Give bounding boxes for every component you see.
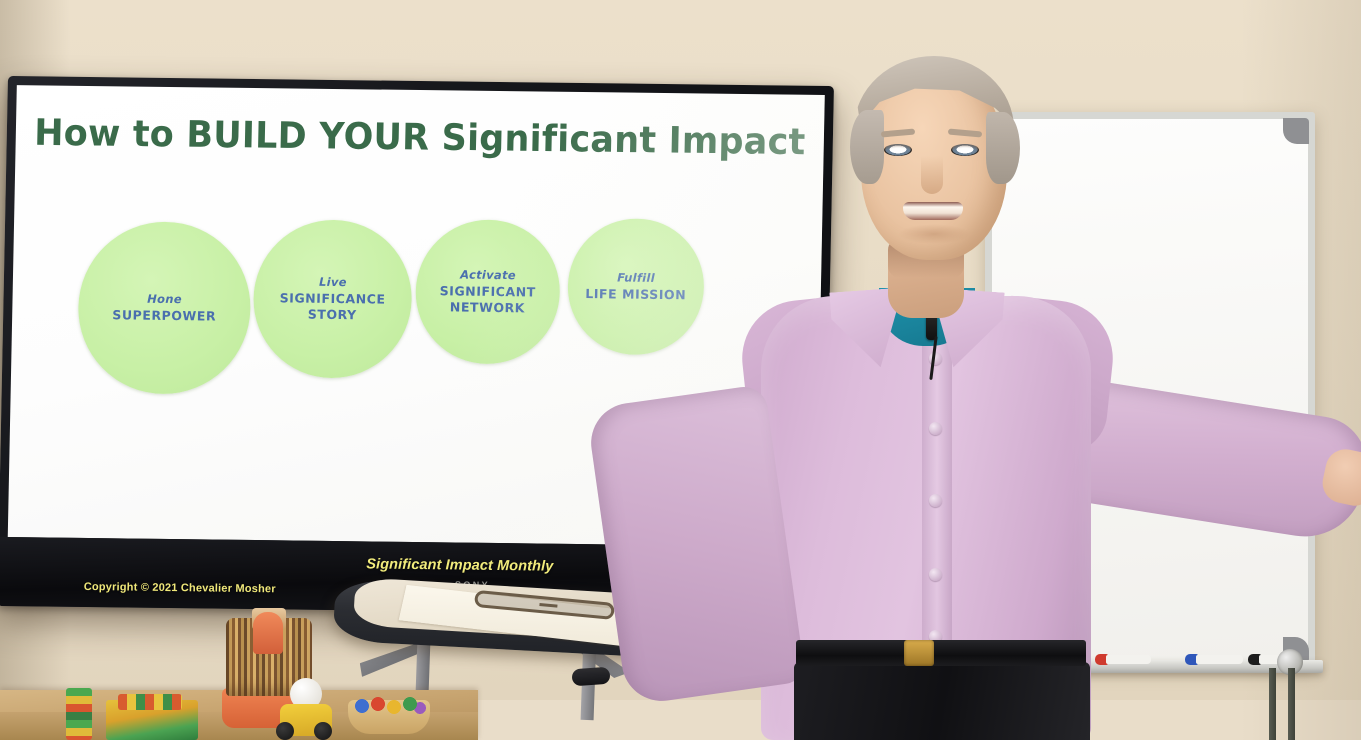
step-2-label: SIGNIFICANCESTORY (279, 291, 385, 324)
step-2-lead: Live (319, 275, 347, 289)
toy-wheel-right (314, 722, 332, 740)
crayon-carousel-knob (253, 612, 283, 654)
shirt-button-4 (929, 568, 942, 581)
presenter-left-eye (884, 144, 912, 156)
presenter-right-eye (951, 144, 979, 156)
step-1-label: SUPERPOWER (112, 307, 216, 324)
room-scene: How to BUILD YOUR Significant Impact Hon… (0, 0, 1361, 740)
lego-stack (66, 688, 92, 740)
step-circle-2[interactable]: Live SIGNIFICANCESTORY (252, 219, 413, 379)
presenter (636, 0, 1361, 740)
toy-wheel-left (276, 722, 294, 740)
slide-copyright-overlay: Copyright © 2021 Chevalier Mosher (84, 581, 276, 595)
step-3-label: SIGNIFICANTNETWORK (439, 284, 536, 316)
presenter-mouth (903, 202, 963, 220)
step-3-lead: Activate (460, 268, 516, 283)
shirt-button-3 (929, 494, 942, 507)
shirt-button-2 (929, 422, 942, 435)
presenter-chin-shadow (898, 224, 970, 244)
desk-height-handle[interactable] (571, 667, 610, 687)
marbles (352, 696, 426, 716)
presenter-belt (796, 640, 1086, 666)
belt-buckle (904, 640, 934, 666)
step-circle-3[interactable]: Activate SIGNIFICANTNETWORK (414, 219, 561, 365)
presenter-trousers (794, 662, 1090, 740)
step-1-lead: Hone (147, 292, 182, 306)
presenter-hair-right-side (986, 112, 1020, 184)
presenter-nose (921, 156, 943, 194)
presenter-hair-left-side (850, 110, 884, 184)
lego-bricks (118, 694, 182, 710)
step-circle-1[interactable]: Hone SUPERPOWER (77, 221, 252, 395)
program-title-overlay: Significant Impact Monthly (366, 556, 553, 574)
